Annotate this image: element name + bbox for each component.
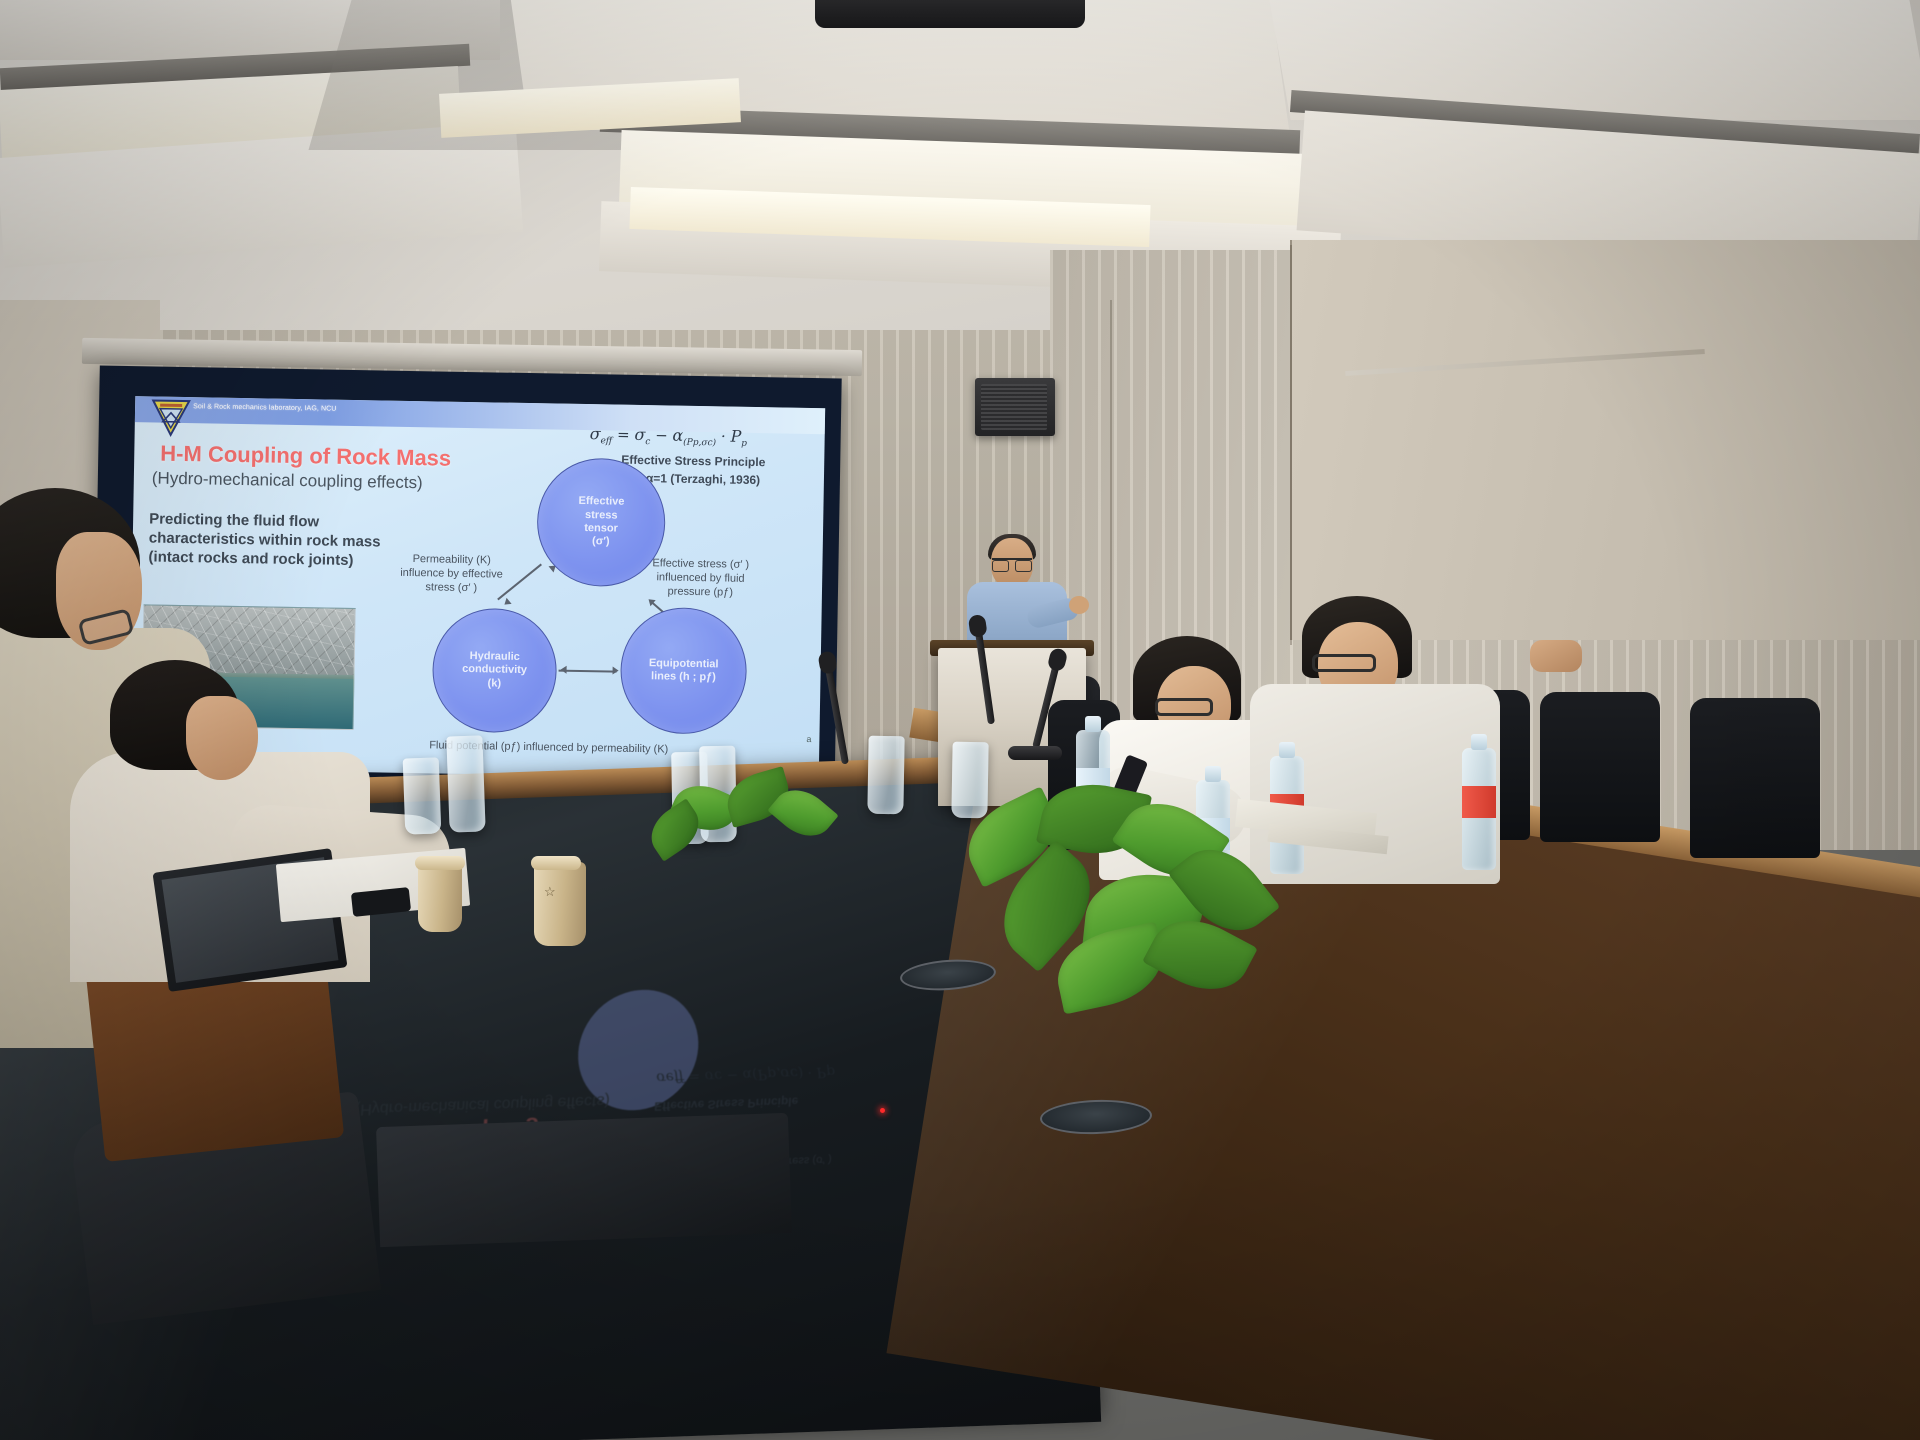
glasses-icon [1155, 698, 1213, 716]
speaker-grill-icon [981, 384, 1047, 430]
node-hydraulic-conductivity: Hydraulic conductivity (k) [431, 607, 557, 733]
tea-cup-lid [531, 856, 581, 870]
node-line: conductivity [462, 663, 527, 678]
annotation-line: Permeability (K) [400, 553, 503, 569]
arrow-head-left [561, 666, 567, 674]
scene-root: Soil & Rock mechanics laboratory, IAG, N… [0, 0, 1920, 1440]
water-bottle[interactable] [1462, 748, 1496, 870]
microphone-base [1008, 746, 1062, 760]
right-wall-band [1290, 240, 1920, 640]
slide-page-marker: a [806, 734, 811, 744]
ceiling-projector [815, 0, 1085, 28]
potted-plant [648, 770, 868, 860]
tea-cup-lid [415, 856, 465, 870]
glasses-icon [992, 558, 1032, 568]
foreground-monitor [376, 1113, 792, 1247]
arrow-hyd-to-eff [497, 564, 542, 601]
annotation-effective-stress: Effective stress (σ′ ) influenced by flu… [652, 557, 749, 600]
effective-stress-equation: σeff = σc − α(Pp,σc) · Pp [589, 424, 747, 449]
node-line: (σ′) [592, 536, 610, 550]
node-line: Effective [578, 495, 624, 509]
annotation-line: influence by effective [400, 567, 503, 583]
annotation-line: influenced by fluid [652, 571, 749, 586]
potted-plant [946, 782, 1326, 1002]
glass-tumbler[interactable] [867, 736, 904, 815]
glasses-icon [1312, 654, 1376, 672]
second-attendee-face [186, 696, 258, 780]
equation-caption-principle: Effective Stress Principle [621, 453, 765, 470]
equation-caption-alpha: α=1 (Terzaghi, 1936) [646, 471, 760, 487]
annotation-line: stress (σ′ ) [400, 580, 503, 596]
node-effective-stress-tensor: Effective stress tensor (σ′) [536, 457, 666, 587]
arrow-head-down-left [502, 598, 512, 608]
bottle-label [1462, 786, 1496, 818]
node-line: Equipotential [649, 657, 719, 672]
annotation-permeability: Permeability (K) influence by effective … [400, 553, 503, 596]
arrow-head-right [613, 667, 619, 675]
node-line: stress [585, 509, 618, 523]
node-line: lines (h ; pƒ) [651, 670, 716, 685]
slide-title: H-M Coupling of Rock Mass [160, 441, 451, 472]
node-line: (k) [487, 677, 501, 691]
node-line: tensor [584, 522, 618, 536]
chair-right-5 [1690, 698, 1820, 858]
glass-tumbler[interactable] [403, 757, 442, 834]
tea-cup[interactable]: ☆ [534, 862, 586, 946]
chair-right-4 [1540, 692, 1660, 842]
node-equipotential-lines: Equipotential lines (h ; pƒ) [619, 607, 747, 735]
presenter-hand [1069, 596, 1089, 614]
tea-cup[interactable] [418, 862, 462, 932]
node-line: Hydraulic [470, 650, 520, 664]
ncu-iag-lab-logo [149, 397, 194, 438]
wall-speaker [975, 378, 1055, 436]
partial-attendee-hand [1530, 640, 1582, 672]
glass-tumbler[interactable] [446, 735, 485, 832]
annotation-line: pressure (pƒ) [652, 585, 749, 600]
annotation-line: Effective stress (σ′ ) [652, 557, 749, 572]
arrow-hyd-equi [559, 670, 617, 673]
tea-cup-motif: ☆ [544, 884, 566, 914]
wall-seam [1290, 245, 1292, 645]
laser-pointer-dot [880, 1108, 885, 1113]
